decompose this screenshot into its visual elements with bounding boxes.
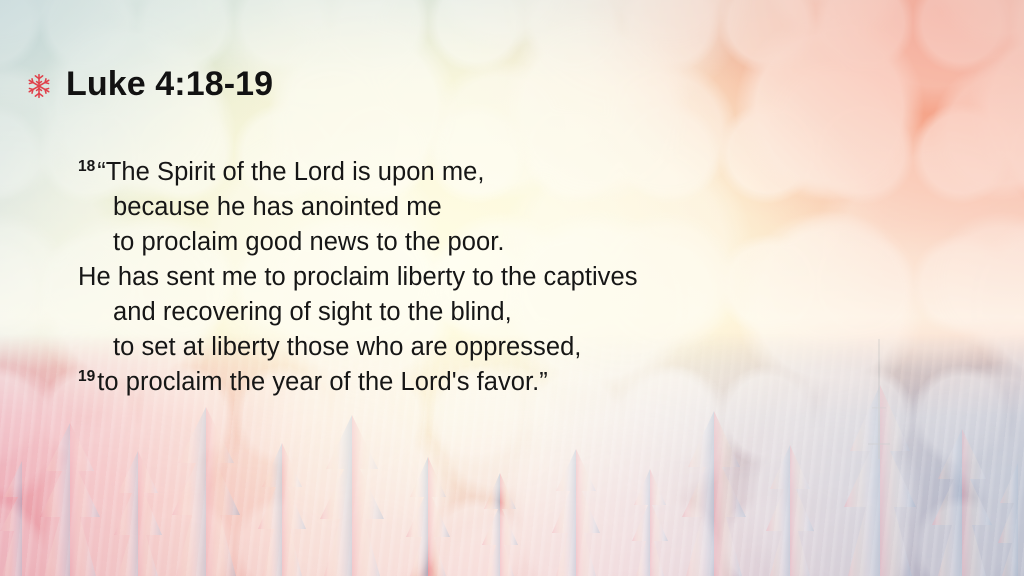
verse-line: 19to proclaim the year of the Lord's fav… <box>78 365 638 400</box>
verse-number: 18 <box>78 158 95 175</box>
verse-line-text: to proclaim good news to the poor. <box>113 228 505 256</box>
page-title: Luke 4:18-19 <box>66 66 273 102</box>
verse-text-block: 18“The Spirit of the Lord is upon me, be… <box>78 155 638 400</box>
verse-line: to set at liberty those who are oppresse… <box>78 330 638 365</box>
presentation-slide: Luke 4:18-19 18“The Spirit of the Lord i… <box>0 0 1024 576</box>
snowflake-icon <box>26 73 52 99</box>
verse-line: to proclaim good news to the poor. <box>78 225 638 260</box>
verse-line-text: to set at liberty those who are oppresse… <box>113 333 581 361</box>
title-row: Luke 4:18-19 <box>26 66 273 102</box>
verse-line: 18“The Spirit of the Lord is upon me, <box>78 155 638 190</box>
slide-content: Luke 4:18-19 18“The Spirit of the Lord i… <box>0 0 1024 576</box>
verse-line-text: “The Spirit of the Lord is upon me, <box>97 158 484 186</box>
verse-line-text: because he has anointed me <box>113 193 442 221</box>
verse-number: 19 <box>78 368 95 385</box>
verse-line: He has sent me to proclaim liberty to th… <box>78 260 638 295</box>
verse-line-text: to proclaim the year of the Lord's favor… <box>97 368 548 396</box>
verse-line-text: and recovering of sight to the blind, <box>113 298 512 326</box>
verse-line: and recovering of sight to the blind, <box>78 295 638 330</box>
verse-line: because he has anointed me <box>78 190 638 225</box>
verse-line-text: He has sent me to proclaim liberty to th… <box>78 263 638 291</box>
